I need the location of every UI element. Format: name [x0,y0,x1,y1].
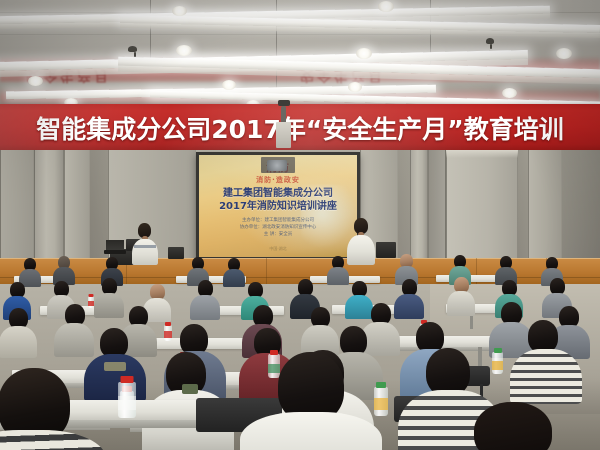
ceiling-downlight [172,6,187,16]
attendee-torso [240,412,382,450]
ceiling-downlight [502,88,517,98]
smoke-detector-icon [128,46,137,52]
ceiling-downlight [348,82,362,92]
ceiling: 安全生产月 安全生产月 [0,0,600,108]
slide-meta-line-1: 主办单位：建工集团智能集成分公司 [199,217,357,224]
slide-meta-line-3: 主 讲：安全员 [199,231,357,238]
banner-text: 智能集成分公司2017年“安全生产月”教育培训 [36,110,563,146]
presenter-silhouette-overlay [261,157,295,173]
ceiling-downlight [556,48,572,59]
table [64,400,214,420]
attendee-head [474,402,552,450]
attendee-torso-striped [0,430,106,450]
slide-title: 建工集团智能集成分公司 2017年消防知识培训讲座 [199,187,357,213]
projector-icon [276,122,291,148]
detector-stem [134,52,136,57]
ceiling-downlight [28,76,43,86]
slide: 消防 消防·造政安 建工集团智能集成分公司 2017年消防知识培训讲座 主办单位… [199,155,357,257]
table-edge [64,420,214,428]
ceiling-downlight [176,45,192,56]
ceiling-downlight [378,1,394,12]
projection-screen: 消防 消防·造政安 建工集团智能集成分公司 2017年消防知识培训讲座 主办单位… [196,152,360,260]
slide-background-graphic [301,185,355,249]
ceiling-downlight [356,48,372,59]
audience-row-6 [0,382,600,450]
slide-logo-subtext: 消防·造政安 [199,175,357,185]
slide-meta-line-2: 协办单位：湖北政安消防知识宣传中心 [199,224,357,231]
training-room-photograph: 安全生产月 安全生产月 [0,0,600,450]
uniform-shoulder-board [134,245,156,248]
event-banner: 智能集成分公司2017年“安全生产月”教育培训 [0,104,600,152]
bottle-cap [121,376,134,383]
slide-title-line-1: 建工集团智能集成分公司 [199,187,357,200]
detector-stem [490,44,492,49]
ceiling-downlight [222,80,236,90]
ceiling-seam [150,0,151,60]
water-bottle [118,376,136,418]
slide-logo-text: 消防 [199,159,357,175]
slide-metadata: 主办单位：建工集团智能集成分公司 协办单位：湖北政安消防知识宣传中心 主 讲：安… [199,217,357,238]
bottle-label [118,396,136,410]
slide-title-line-2: 2017年消防知识培训讲座 [199,200,357,213]
column-cap [446,150,518,158]
